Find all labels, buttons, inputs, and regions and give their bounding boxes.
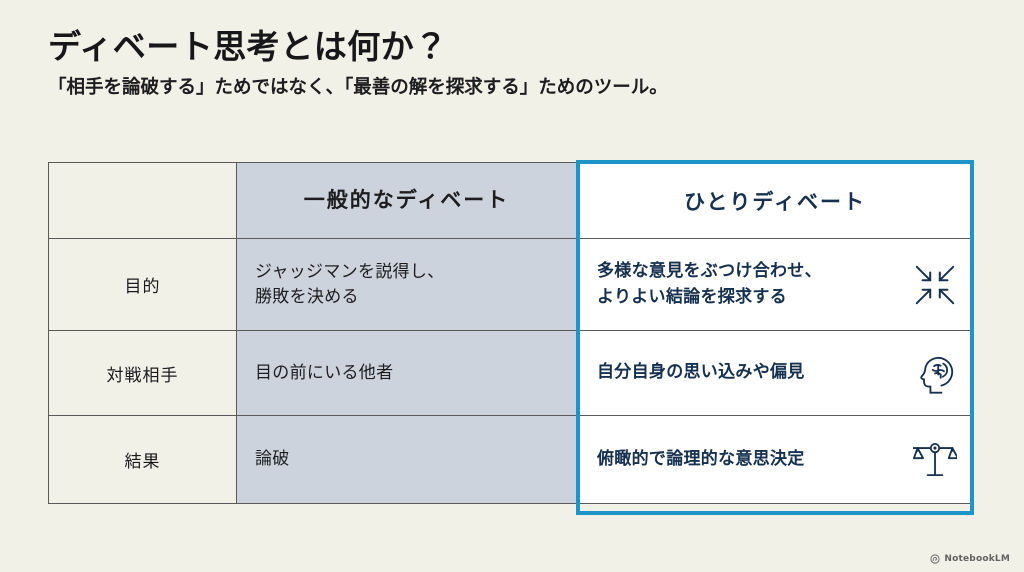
row-label-result: 結果	[49, 416, 237, 504]
table-row: 目的 ジャッジマンを説得し、 勝敗を決める 多様な意見をぶつけ合わせ、 よりよい…	[49, 239, 974, 331]
cell-solo-rival: 自分自身の思い込みや偏見	[577, 331, 974, 416]
cell-text-line: 目の前にいる他者	[255, 361, 558, 386]
row-label-purpose: 目的	[49, 239, 237, 331]
header-cell-general-debate: 一般的なディベート	[237, 163, 577, 239]
cell-text-line: 俯瞰的で論理的な意思決定	[597, 447, 805, 473]
table-row: 対戦相手 目の前にいる他者 自分自身の思い込みや偏見	[49, 331, 974, 416]
table-header-row: 一般的なディベート ひとりディベート	[49, 163, 974, 239]
slide-header: ディベート思考とは何か？ 「相手を論破する」ためではなく、「最善の解を探求する」…	[48, 28, 978, 100]
head-brain-icon	[911, 349, 959, 397]
header-cell-solo-debate: ひとりディベート	[577, 163, 974, 239]
cell-text-line: 自分自身の思い込みや偏見	[597, 360, 805, 386]
solo-text-result: 俯瞰的で論理的な意思決定	[597, 447, 805, 473]
comparison-table: 一般的なディベート ひとりディベート 目的 ジャッジマンを説得し、 勝敗を決める…	[48, 162, 974, 504]
cell-general-rival: 目の前にいる他者	[237, 331, 577, 416]
page-subtitle: 「相手を論破する」ためではなく、「最善の解を探求する」ためのツール。	[48, 76, 978, 100]
cell-text-line: 勝敗を決める	[255, 285, 558, 310]
cell-solo-purpose: 多様な意見をぶつけ合わせ、 よりよい結論を探求する	[577, 239, 974, 331]
balance-scales-icon	[911, 436, 959, 484]
solo-text-purpose: 多様な意見をぶつけ合わせ、 よりよい結論を探求する	[597, 259, 822, 310]
cell-general-result: 論破	[237, 416, 577, 504]
notebooklm-logo-icon	[930, 554, 940, 564]
cell-general-purpose: ジャッジマンを説得し、 勝敗を決める	[237, 239, 577, 331]
solo-text-rival: 自分自身の思い込みや偏見	[597, 360, 805, 386]
notebooklm-watermark: NotebookLM	[930, 554, 1010, 564]
cell-text-line: 論破	[255, 447, 558, 472]
cell-text-line: よりよい結論を探求する	[597, 285, 822, 311]
cell-text-line: ジャッジマンを説得し、	[255, 260, 558, 285]
table-row: 結果 論破 俯瞰的で論理的な意思決定	[49, 416, 974, 504]
page-title: ディベート思考とは何か？	[48, 28, 978, 66]
notebooklm-watermark-label: NotebookLM	[944, 554, 1010, 564]
row-label-rival: 対戦相手	[49, 331, 237, 416]
cell-solo-result: 俯瞰的で論理的な意思決定	[577, 416, 974, 504]
header-cell-label-column	[49, 163, 237, 239]
converge-arrows-icon	[911, 261, 959, 309]
cell-text-line: 多様な意見をぶつけ合わせ、	[597, 259, 822, 285]
